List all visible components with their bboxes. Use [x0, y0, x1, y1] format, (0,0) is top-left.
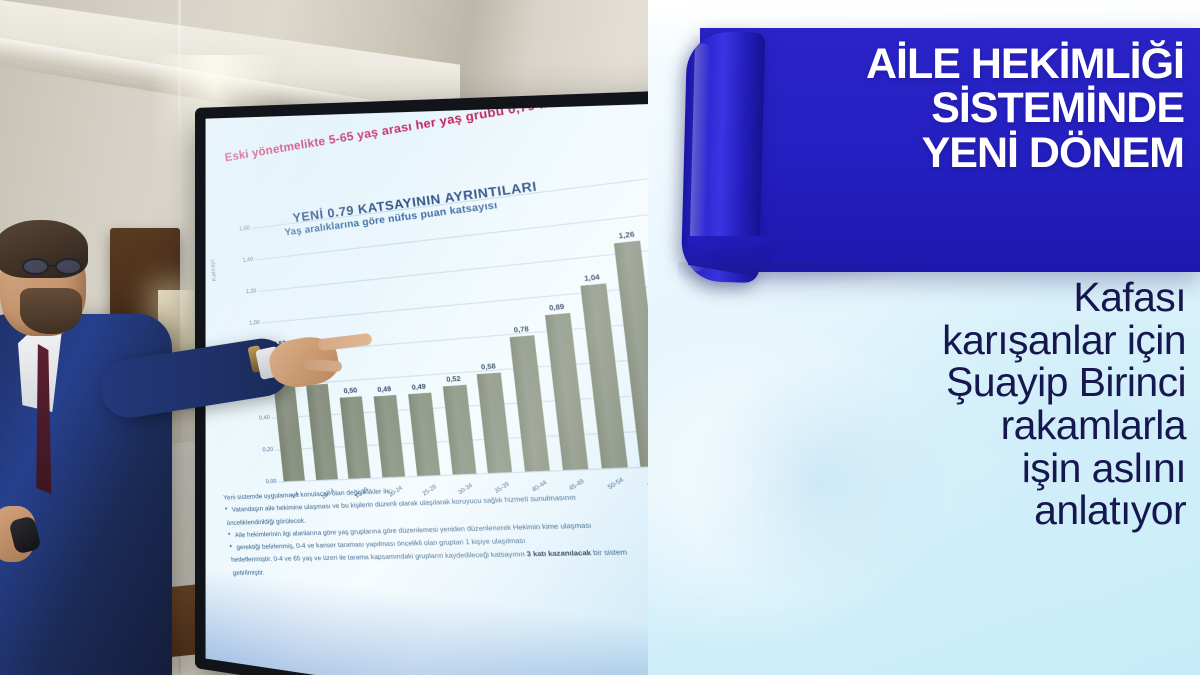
bar: [374, 395, 405, 477]
deck-line-5: işin aslını: [678, 447, 1186, 490]
slide-note-emphasis: 3 katı kazanılacak: [526, 550, 591, 559]
bar: [306, 383, 338, 480]
bar: [510, 335, 550, 471]
bar-value-label: 1,26: [618, 231, 635, 241]
bar-value-label: 0,52: [446, 376, 461, 385]
lens-right: [55, 258, 82, 275]
bar: [340, 396, 371, 479]
deck-line-2: karışanlar için: [678, 319, 1186, 362]
bar-value-label: 0,78: [513, 326, 529, 335]
press-photo: Eski yönetmelikte 5-65 yaş arası her yaş…: [0, 0, 700, 675]
screenshot-root: Eski yönetmelikte 5-65 yaş arası her yaş…: [0, 0, 1200, 675]
bar-value-label: 0,49: [411, 383, 426, 391]
slide-red-annotation: Eski yönetmelikte 5-65 yaş arası her yaş…: [224, 101, 700, 164]
deck-line-1: Kafası: [678, 276, 1186, 319]
bar-value-label: 0,58: [481, 363, 496, 372]
headline-line-3: YENİ DÖNEM: [708, 131, 1184, 175]
deck-line-4: rakamlarla: [678, 404, 1186, 447]
chart-bars: 0,820,590,500,490,490,520,580,780,891,04…: [254, 174, 700, 481]
bar: [443, 385, 476, 474]
lens-left: [22, 258, 49, 275]
y-tick-label: 0,00: [260, 479, 277, 486]
bar: [408, 393, 440, 476]
bar-value-label: 0,49: [377, 386, 391, 394]
speaker-figure: [0, 196, 252, 675]
y-tick-label: 0,40: [254, 415, 271, 422]
bar-value-label: 0,50: [343, 386, 357, 394]
y-tick-label: 0,20: [257, 447, 274, 454]
headline-text: AİLE HEKİMLİĞİSİSTEMİNDEYENİ DÖNEM: [708, 42, 1194, 175]
headline-line-1: AİLE HEKİMLİĞİ: [708, 42, 1184, 86]
deck-text: Kafasıkarışanlar içinŞuayip Birincirakam…: [678, 276, 1194, 532]
bar-value-label: 1,04: [584, 273, 600, 282]
bar-value-label: 0,89: [549, 303, 565, 312]
beard: [20, 288, 82, 334]
bar: [477, 373, 512, 474]
headline-line-2: SİSTEMİNDE: [708, 86, 1184, 130]
deck-line-3: Şuayip Birinci: [678, 361, 1186, 404]
headline-panel: AİLE HEKİMLİĞİSİSTEMİNDEYENİ DÖNEM Kafas…: [648, 0, 1200, 675]
deck-line-6: anlatıyor: [678, 489, 1186, 532]
eyeglasses: [22, 258, 88, 275]
